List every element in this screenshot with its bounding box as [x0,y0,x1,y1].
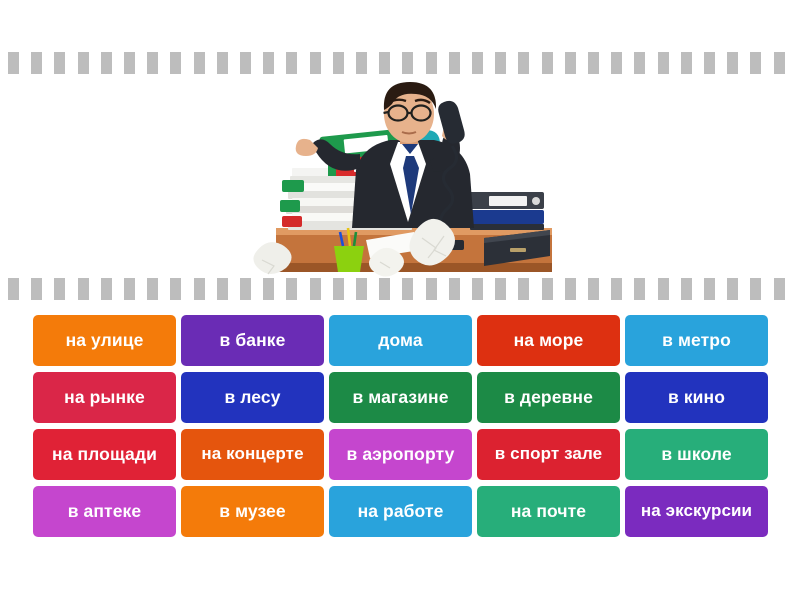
dash-segment [101,278,112,300]
dash-segment [658,278,669,300]
dash-segment [681,52,692,74]
dash-segment [426,52,437,74]
answer-tile[interactable]: на улице [33,315,176,366]
dash-segment [449,278,460,300]
dash-segment [634,52,645,74]
answer-tile[interactable]: на работе [329,486,472,537]
dash-segment [495,52,506,74]
answer-tile[interactable]: в лесу [181,372,324,423]
dashed-divider-top [0,52,800,74]
answer-tile[interactable]: на почте [477,486,620,537]
dash-segment [565,52,576,74]
answer-tile[interactable]: на рынке [33,372,176,423]
dash-segment [310,278,321,300]
answer-tiles-grid: на улицев банкедомана морев метрона рынк… [33,315,768,537]
dash-segment [704,52,715,74]
dash-segment [194,52,205,74]
dash-segment [681,278,692,300]
dash-segment [750,278,761,300]
dash-segment [658,52,669,74]
dash-segment [704,278,715,300]
answer-tile[interactable]: в школе [625,429,768,480]
dash-segment [379,52,390,74]
dash-segment [611,278,622,300]
dash-segment [472,52,483,74]
dash-segment [333,278,344,300]
dash-segment [611,52,622,74]
dash-segment [170,52,181,74]
answer-tile[interactable]: в спорт зале [477,429,620,480]
answer-tile[interactable]: в музее [181,486,324,537]
activity-page: office [0,0,800,600]
dash-segment [472,278,483,300]
dash-segment [750,52,761,74]
dash-segment [518,278,529,300]
answer-tile[interactable]: в аптеке [33,486,176,537]
dash-segment [727,278,738,300]
dash-segment [240,278,251,300]
dash-segment [727,52,738,74]
dash-segment [402,52,413,74]
dash-segment [54,52,65,74]
dash-segment [379,278,390,300]
answer-tile[interactable]: на площади [33,429,176,480]
dash-segment [588,52,599,74]
answer-tile[interactable]: на концерте [181,429,324,480]
dash-segment [774,52,785,74]
dash-segment [426,278,437,300]
dash-segment [124,52,135,74]
answer-tile[interactable]: в деревне [477,372,620,423]
dash-segment [588,278,599,300]
dash-segment [101,52,112,74]
dash-segment [263,278,274,300]
dash-segment [286,52,297,74]
answer-tile[interactable]: на море [477,315,620,366]
dash-segment [147,278,158,300]
prompt-image: office [248,80,552,278]
answer-tile[interactable]: в аэропорту [329,429,472,480]
dash-segment [518,52,529,74]
dash-segment [217,52,228,74]
dash-segment [240,52,251,74]
dash-segment [263,52,274,74]
dash-segment [54,278,65,300]
dash-segment [449,52,460,74]
dash-segment [356,278,367,300]
answer-tile[interactable]: в метро [625,315,768,366]
dash-segment [124,278,135,300]
dash-segment [542,278,553,300]
dash-segment [542,52,553,74]
dash-segment [495,278,506,300]
dash-segment [356,52,367,74]
dash-segment [565,278,576,300]
dash-segment [333,52,344,74]
answer-tile[interactable]: в банке [181,315,324,366]
answer-tile[interactable]: на экскурсии [625,486,768,537]
dash-segment [774,278,785,300]
dash-segment [78,278,89,300]
dash-segment [217,278,228,300]
dash-segment [8,278,19,300]
answer-tile[interactable]: в кино [625,372,768,423]
dash-segment [31,278,42,300]
answer-tile[interactable]: в магазине [329,372,472,423]
dash-segment [147,52,158,74]
dash-segment [31,52,42,74]
dash-segment [634,278,645,300]
dash-segment [170,278,181,300]
dashed-divider-middle [0,278,800,300]
answer-tile[interactable]: дома [329,315,472,366]
dash-segment [78,52,89,74]
dash-segment [286,278,297,300]
dash-segment [8,52,19,74]
dash-segment [310,52,321,74]
dash-segment [194,278,205,300]
dash-segment [402,278,413,300]
